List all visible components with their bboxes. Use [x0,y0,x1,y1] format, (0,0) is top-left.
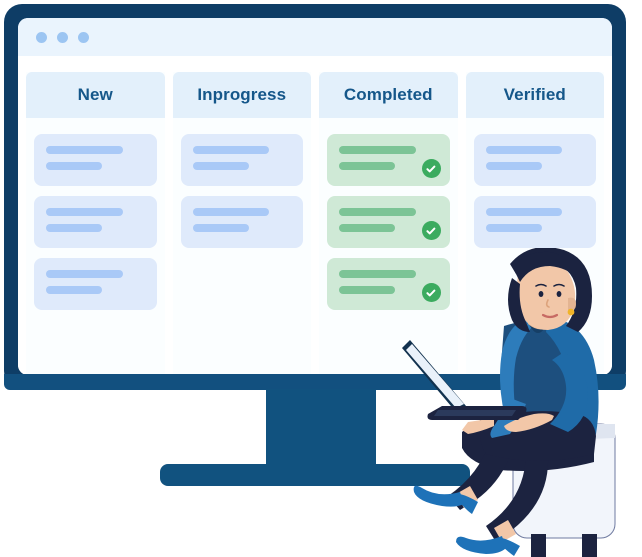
card-line-secondary [193,224,249,232]
column-header-inprogress[interactable]: Inprogress [173,72,312,118]
browser-titlebar [18,18,612,56]
kanban-column-new: New [26,72,165,375]
task-card[interactable] [181,196,304,248]
shoe-icon [456,536,520,556]
card-line-primary [46,208,123,216]
earring-icon [568,309,575,316]
card-line-primary [46,270,123,278]
column-header-new[interactable]: New [26,72,165,118]
task-card-completed[interactable] [327,134,450,186]
column-header-completed[interactable]: Completed [319,72,458,118]
window-maximize-dot-icon[interactable] [78,32,89,43]
card-line-secondary [46,224,102,232]
card-line-primary [339,208,416,216]
person-illustration [398,248,642,557]
column-title-new: New [78,85,113,105]
task-card-completed[interactable] [327,196,450,248]
task-card[interactable] [34,196,157,248]
column-header-verified[interactable]: Verified [466,72,605,118]
column-title-inprogress: Inprogress [197,85,286,105]
card-line-primary [339,146,416,154]
card-line-secondary [339,162,395,170]
task-card[interactable] [474,134,597,186]
card-line-secondary [486,224,542,232]
column-title-completed: Completed [344,85,433,105]
card-line-secondary [339,286,395,294]
card-line-secondary [46,162,102,170]
card-line-primary [486,208,563,216]
task-card[interactable] [474,196,597,248]
task-card[interactable] [181,134,304,186]
check-circle-icon [422,159,441,178]
card-line-primary [193,146,270,154]
column-title-verified: Verified [504,85,566,105]
column-body-inprogress [173,118,312,375]
card-line-primary [46,146,123,154]
card-line-primary [193,208,270,216]
column-body-new [26,118,165,375]
window-close-dot-icon[interactable] [36,32,47,43]
card-line-secondary [193,162,249,170]
card-line-secondary [46,286,102,294]
window-minimize-dot-icon[interactable] [57,32,68,43]
card-line-secondary [339,224,395,232]
card-line-secondary [486,162,542,170]
card-line-primary [486,146,563,154]
kanban-column-inprogress: Inprogress [173,72,312,375]
check-circle-icon [422,221,441,240]
monitor-stand-neck [266,389,376,467]
task-card[interactable] [34,258,157,310]
illustration-scene: New [0,0,642,557]
task-card[interactable] [34,134,157,186]
